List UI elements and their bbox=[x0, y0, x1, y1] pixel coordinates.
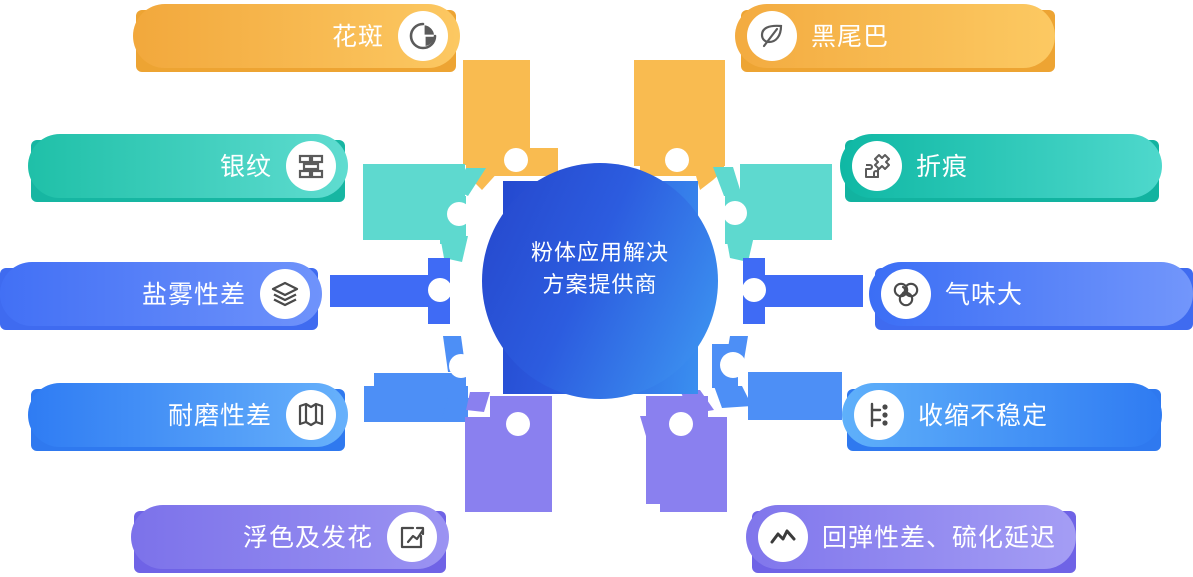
node-label-qi-wei-da: 气味大 bbox=[945, 282, 1023, 307]
node-fu-se-ji-fa-hua[interactable]: 浮色及发花 bbox=[131, 505, 449, 569]
connector-zhe-hen bbox=[713, 164, 832, 262]
connector-hei-wei-ba bbox=[634, 60, 725, 190]
node-label-shou-suo: 收缩不稳定 bbox=[918, 403, 1048, 428]
center-label: 粉体应用解决 方案提供商 bbox=[481, 238, 719, 302]
connector-shou-suo bbox=[712, 336, 842, 420]
node-yin-wen[interactable]: 银纹 bbox=[28, 134, 348, 198]
diagram-canvas: 粉体应用解决 方案提供商 花斑 银纹 bbox=[0, 0, 1193, 577]
node-label-yan-wu: 盐雾性差 bbox=[142, 282, 246, 307]
leaf-icon bbox=[747, 11, 797, 61]
node-label-hei-wei-ba: 黑尾巴 bbox=[811, 24, 889, 49]
node-hua-ban[interactable]: 花斑 bbox=[133, 4, 460, 68]
layers-icon bbox=[260, 269, 310, 319]
node-shou-suo-bu-wen-ding[interactable]: 收缩不稳定 bbox=[842, 383, 1162, 447]
line-chart-icon bbox=[758, 512, 808, 562]
pie-chart-icon bbox=[398, 11, 448, 61]
node-zhe-hen[interactable]: 折痕 bbox=[840, 134, 1162, 198]
connector-qi-wei-da bbox=[742, 258, 863, 324]
connector-hui-tan bbox=[640, 390, 727, 512]
puzzle-icon bbox=[852, 141, 902, 191]
node-label-yin-wen: 银纹 bbox=[220, 154, 272, 179]
connector-yan-wu bbox=[330, 258, 452, 324]
node-label-nai-mo: 耐磨性差 bbox=[168, 403, 272, 428]
node-hei-wei-ba[interactable]: 黑尾巴 bbox=[735, 4, 1055, 68]
node-label-zhe-hen: 折痕 bbox=[916, 154, 968, 179]
connector-yin-wen bbox=[363, 164, 486, 262]
node-hui-tan-liu-hua[interactable]: 回弹性差、硫化延迟 bbox=[746, 505, 1076, 569]
trend-chart-icon bbox=[387, 512, 437, 562]
connector-nai-mo bbox=[364, 336, 473, 422]
node-nai-mo-xing-cha[interactable]: 耐磨性差 bbox=[28, 383, 348, 447]
recycle-icon bbox=[881, 269, 931, 319]
node-label-hua-ban: 花斑 bbox=[332, 24, 384, 49]
connector-fu-se bbox=[465, 392, 552, 512]
node-label-hui-tan: 回弹性差、硫化延迟 bbox=[822, 525, 1056, 550]
node-label-fu-se: 浮色及发花 bbox=[243, 525, 373, 550]
node-qi-wei-da[interactable]: 气味大 bbox=[869, 262, 1193, 326]
node-yan-wu-xing-cha[interactable]: 盐雾性差 bbox=[0, 262, 322, 326]
brick-wall-icon bbox=[286, 141, 336, 191]
open-book-icon bbox=[286, 390, 336, 440]
sitemap-icon bbox=[854, 390, 904, 440]
